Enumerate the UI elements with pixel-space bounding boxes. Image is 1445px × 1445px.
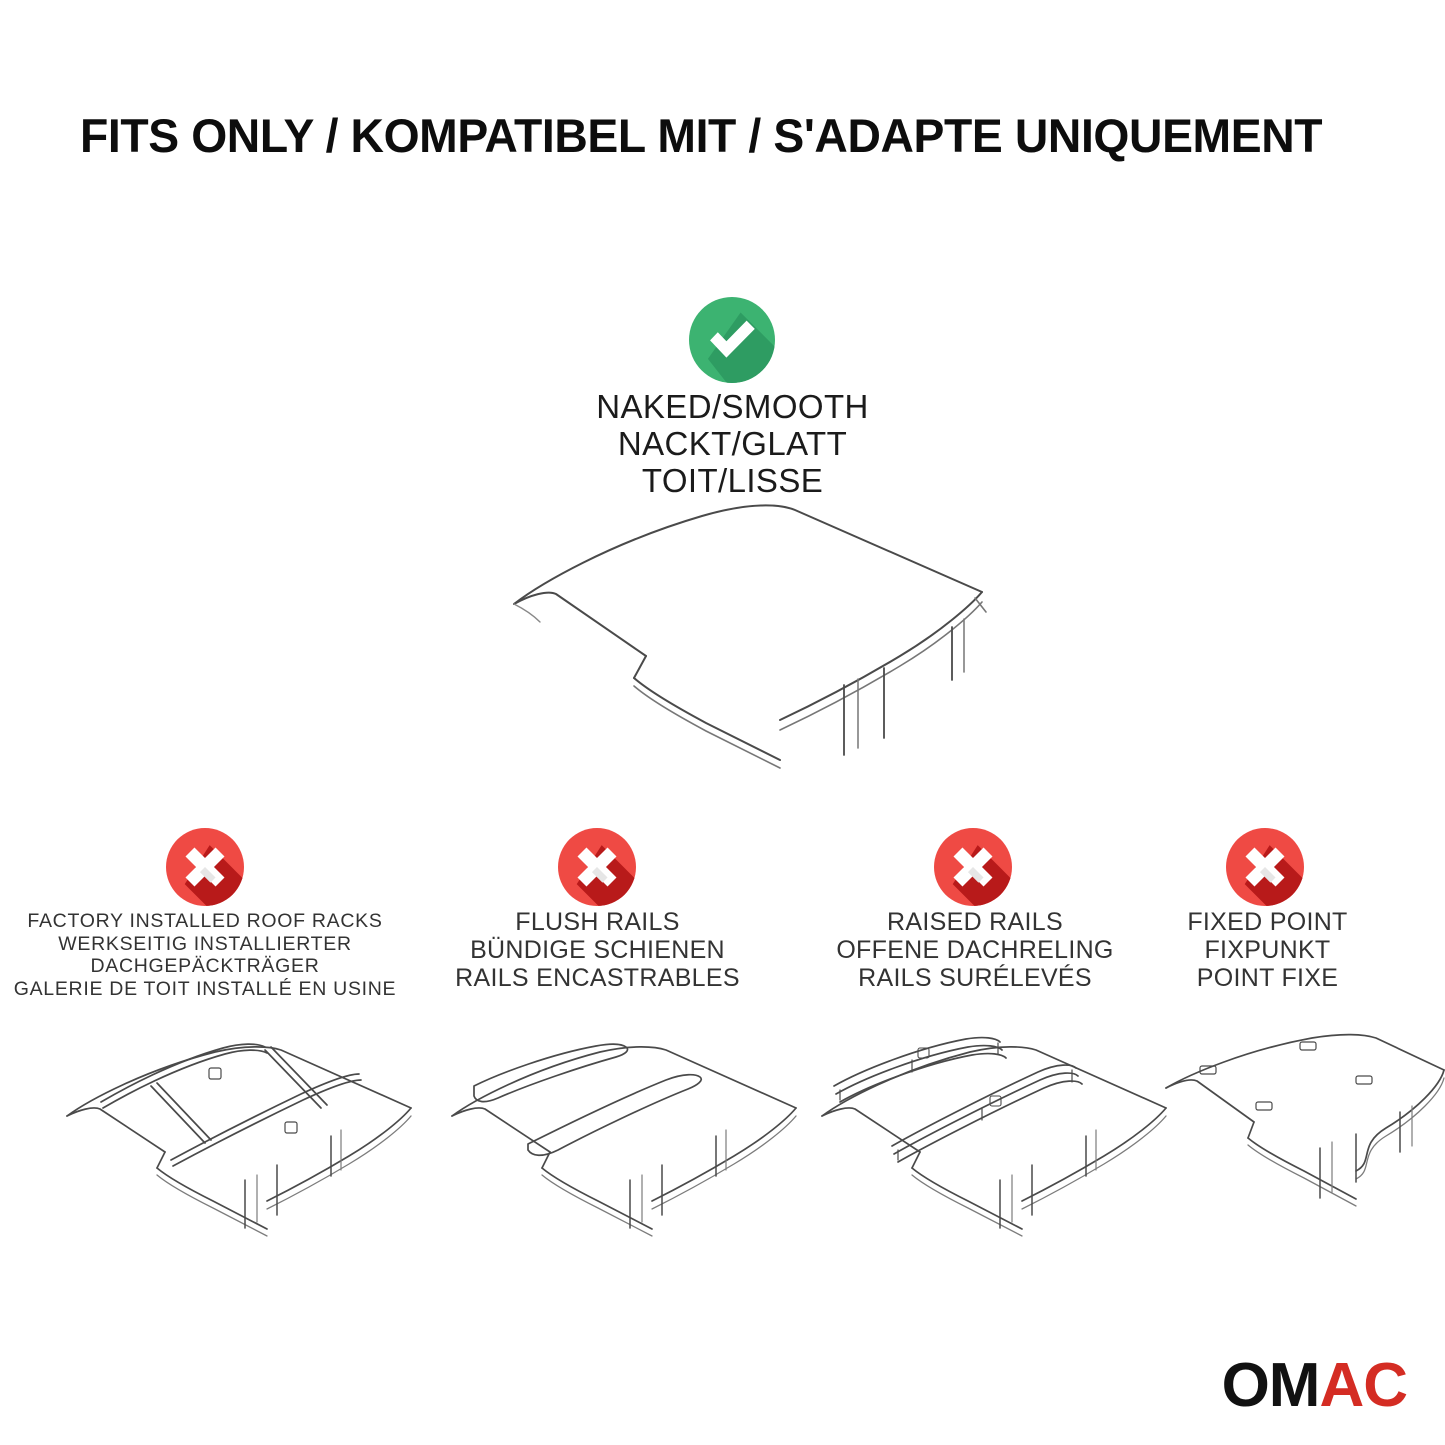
incompatible-label-en: FIXED POINT: [1130, 908, 1405, 936]
incompatible-label-group-fixed-point: FIXED POINT FIXPUNKT POINT FIXE: [1130, 908, 1405, 992]
x-circle-icon-raised-rails: [934, 828, 1012, 906]
x-icon-glyph: [934, 828, 1012, 906]
incompatible-label-group-flush-rails: FLUSH RAILS BÜNDIGE SCHIENEN RAILS ENCAS…: [400, 908, 795, 992]
x-icon-glyph: [1226, 828, 1304, 906]
logo-text-dark: OM: [1222, 1351, 1320, 1420]
logo-text-red: AC: [1319, 1351, 1407, 1420]
car-roof-flush-rails-illustration: [430, 1030, 805, 1245]
incompatible-label-fr: RAILS SURÉLEVÉS: [775, 964, 1175, 992]
x-circle-icon-factory-racks: [166, 828, 244, 906]
car-roof-raised-rails-illustration: [800, 1030, 1175, 1245]
x-icon-glyph: [558, 828, 636, 906]
compatible-label-en: NAKED/SMOOTH: [450, 388, 1015, 425]
incompatible-label-fr: RAILS ENCASTRABLES: [400, 964, 795, 992]
roof-flush-rails-svg: [430, 1030, 805, 1245]
roof-raised-rails-svg: [800, 1030, 1175, 1245]
incompatible-label-fr: POINT FIXE: [1130, 964, 1405, 992]
compatible-label-de: NACKT/GLATT: [450, 425, 1015, 462]
incompatible-label-de-1: WERKSEITIG INSTALLIERTER: [5, 933, 405, 956]
page-title: FITS ONLY / KOMPATIBEL MIT / S'ADAPTE UN…: [80, 108, 1361, 164]
incompatible-label-de-2: DACHGEPÄCKTRÄGER: [5, 955, 405, 978]
roof-outline-svg: [470, 480, 990, 770]
incompatible-label-en: RAISED RAILS: [775, 908, 1175, 936]
car-roof-fixed-point-illustration: [1160, 1030, 1445, 1245]
incompatible-label-de: OFFENE DACHRELING: [775, 936, 1175, 964]
incompatible-label-group-factory-racks: FACTORY INSTALLED ROOF RACKS WERKSEITIG …: [5, 910, 405, 1000]
roof-factory-racks-svg: [45, 1030, 420, 1245]
incompatible-label-group-raised-rails: RAISED RAILS OFFENE DACHRELING RAILS SUR…: [775, 908, 1175, 992]
roof-fixed-point-svg: [1160, 1030, 1445, 1245]
car-roof-naked-smooth-illustration: [470, 480, 990, 770]
incompatible-label-de: BÜNDIGE SCHIENEN: [400, 936, 795, 964]
check-circle-icon: [689, 297, 775, 383]
x-circle-icon-fixed-point: [1226, 828, 1304, 906]
check-icon-glyph: [689, 297, 775, 383]
x-circle-icon-flush-rails: [558, 828, 636, 906]
omac-logo: OMAC: [1222, 1355, 1407, 1417]
x-icon-glyph: [166, 828, 244, 906]
incompatible-label-fr: GALERIE DE TOIT INSTALLÉ EN USINE: [5, 978, 405, 1001]
car-roof-factory-racks-illustration: [45, 1030, 420, 1245]
incompatible-label-en: FLUSH RAILS: [400, 908, 795, 936]
incompatible-label-de: FIXPUNKT: [1130, 936, 1405, 964]
compatibility-infographic: FITS ONLY / KOMPATIBEL MIT / S'ADAPTE UN…: [0, 0, 1445, 1445]
incompatible-label-en: FACTORY INSTALLED ROOF RACKS: [5, 910, 405, 933]
